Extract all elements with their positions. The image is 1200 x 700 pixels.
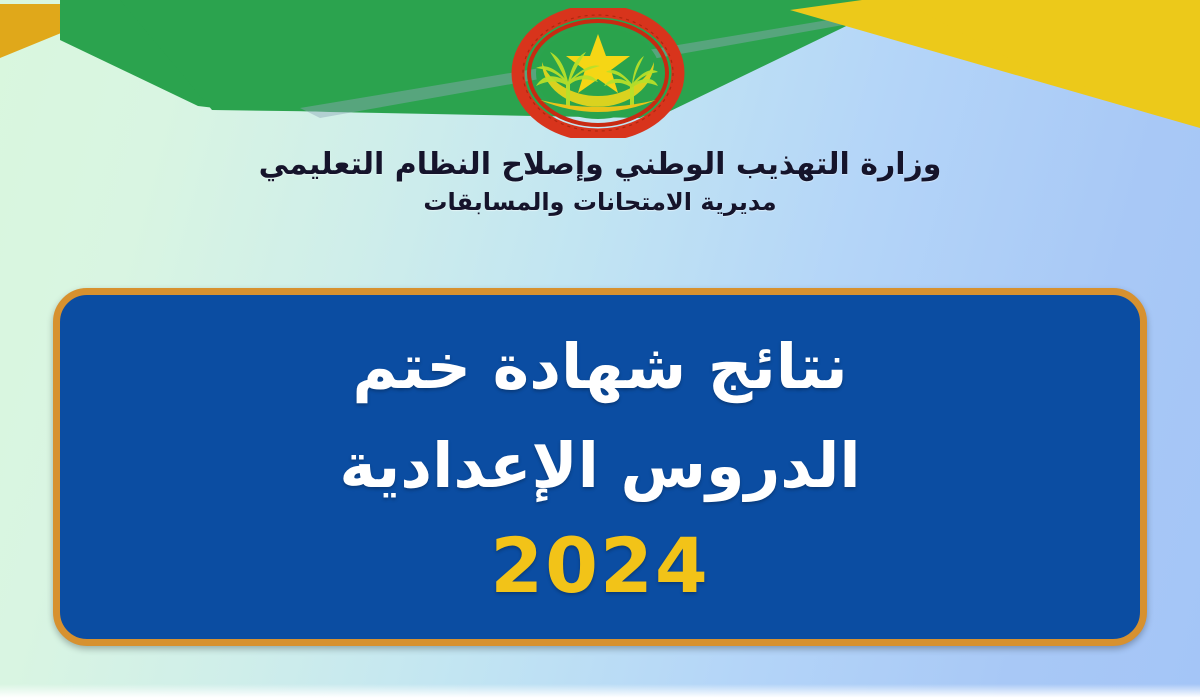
ministry-heading: وزارة التهذيب الوطني وإصلاح النظام التعل… — [0, 146, 1200, 219]
banner-title-line-1: نتائج شهادة ختم — [352, 330, 847, 403]
banner-title-line-2: الدروس الإعدادية — [339, 429, 860, 502]
yellow-band-shape-2 — [900, 0, 1200, 126]
directorate-name: مديرية الامتحانات والمسابقات — [0, 186, 1200, 218]
poster-root: وزارة التهذيب الوطني وإصلاح النظام التعل… — [0, 0, 1200, 700]
mauritania-emblem-icon — [508, 8, 688, 138]
ministry-name: وزارة التهذيب الوطني وإصلاح النظام التعل… — [0, 146, 1200, 184]
results-banner: نتائج شهادة ختم الدروس الإعدادية 2024 — [53, 288, 1147, 646]
banner-year: 2024 — [490, 528, 710, 604]
